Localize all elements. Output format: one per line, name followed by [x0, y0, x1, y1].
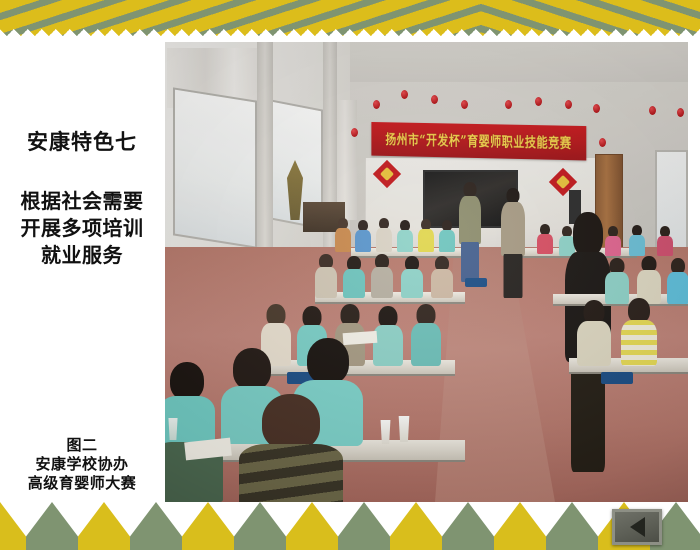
body-line: 开展多项培训 [0, 215, 164, 242]
photo-person [335, 218, 351, 252]
lantern-icon [505, 100, 512, 109]
page-title: 安康特色七 [0, 130, 164, 154]
photo-person [621, 298, 657, 366]
top-decorative-band [0, 0, 700, 40]
photo-wall-column [257, 42, 273, 257]
previous-slide-button[interactable] [612, 509, 662, 545]
photo-person [376, 218, 392, 252]
lantern-icon [401, 90, 408, 99]
triangle-left-icon [630, 517, 645, 537]
decor-triangle [442, 502, 494, 550]
photo-standing-person [501, 188, 525, 298]
slide-canvas: 安康特色七 根据社会需要 开展多项培训 就业服务 图二 安康学校协办 高级育婴师… [0, 0, 700, 550]
photo-person [637, 256, 661, 304]
decor-triangle [234, 502, 286, 550]
body-text-block: 根据社会需要 开展多项培训 就业服务 [0, 188, 164, 269]
photo-person [537, 224, 553, 254]
lantern-icon [593, 104, 600, 113]
left-text-panel: 安康特色七 根据社会需要 开展多项培训 就业服务 图二 安康学校协办 高级育婴师… [0, 46, 164, 502]
classroom-photo: 扬州市“开发杯”育婴师职业技能竞赛 [165, 42, 688, 502]
lantern-icon [649, 106, 656, 115]
photo-person [431, 256, 453, 298]
competition-banner-text: 扬州市“开发杯”育婴师职业技能竞赛 [385, 129, 571, 153]
photo-person [411, 304, 441, 366]
body-line: 根据社会需要 [0, 188, 164, 215]
decor-triangle [78, 502, 130, 550]
decor-triangle [546, 502, 598, 550]
photo-person [657, 226, 673, 256]
photo-person [439, 220, 455, 252]
decor-triangle [0, 502, 26, 550]
lantern-icon [535, 97, 542, 106]
caption-line: 图二 [0, 436, 164, 455]
decor-triangle [26, 502, 78, 550]
photo-window [173, 87, 257, 248]
lantern-icon [599, 138, 606, 147]
photo-chair [465, 278, 487, 287]
photo-standing-person [459, 182, 481, 282]
photo-person [343, 256, 365, 298]
photo-person [629, 225, 645, 256]
photo-person [418, 219, 434, 252]
lantern-icon [461, 100, 468, 109]
bottom-decorative-band [0, 502, 700, 550]
lantern-icon [677, 108, 684, 117]
photo-chair [601, 372, 633, 384]
lantern-icon [431, 95, 438, 104]
decor-triangle [338, 502, 390, 550]
photo-person [315, 254, 337, 298]
photo-person [397, 220, 413, 252]
competition-banner: 扬州市“开发杯”育婴师职业技能竞赛 [371, 122, 586, 161]
decor-triangle [286, 502, 338, 550]
photo-person [355, 220, 371, 252]
lantern-icon [565, 100, 572, 109]
photo-person [373, 306, 403, 366]
caption-line: 高级育婴师大赛 [0, 474, 164, 493]
body-line: 就业服务 [0, 242, 164, 269]
photo-person [667, 258, 688, 304]
decor-triangle [494, 502, 546, 550]
photo-paper [343, 331, 378, 345]
decor-triangle [130, 502, 182, 550]
photo-person [577, 300, 611, 366]
photo-person [401, 256, 423, 298]
decor-triangle [182, 502, 234, 550]
photo-person-closest [239, 394, 343, 502]
photo-person [371, 254, 393, 298]
caption-line: 安康学校协办 [0, 455, 164, 474]
lantern-icon [373, 100, 380, 109]
figure-caption: 图二 安康学校协办 高级育婴师大赛 [0, 436, 164, 493]
decor-triangle [390, 502, 442, 550]
lantern-icon [351, 128, 358, 137]
